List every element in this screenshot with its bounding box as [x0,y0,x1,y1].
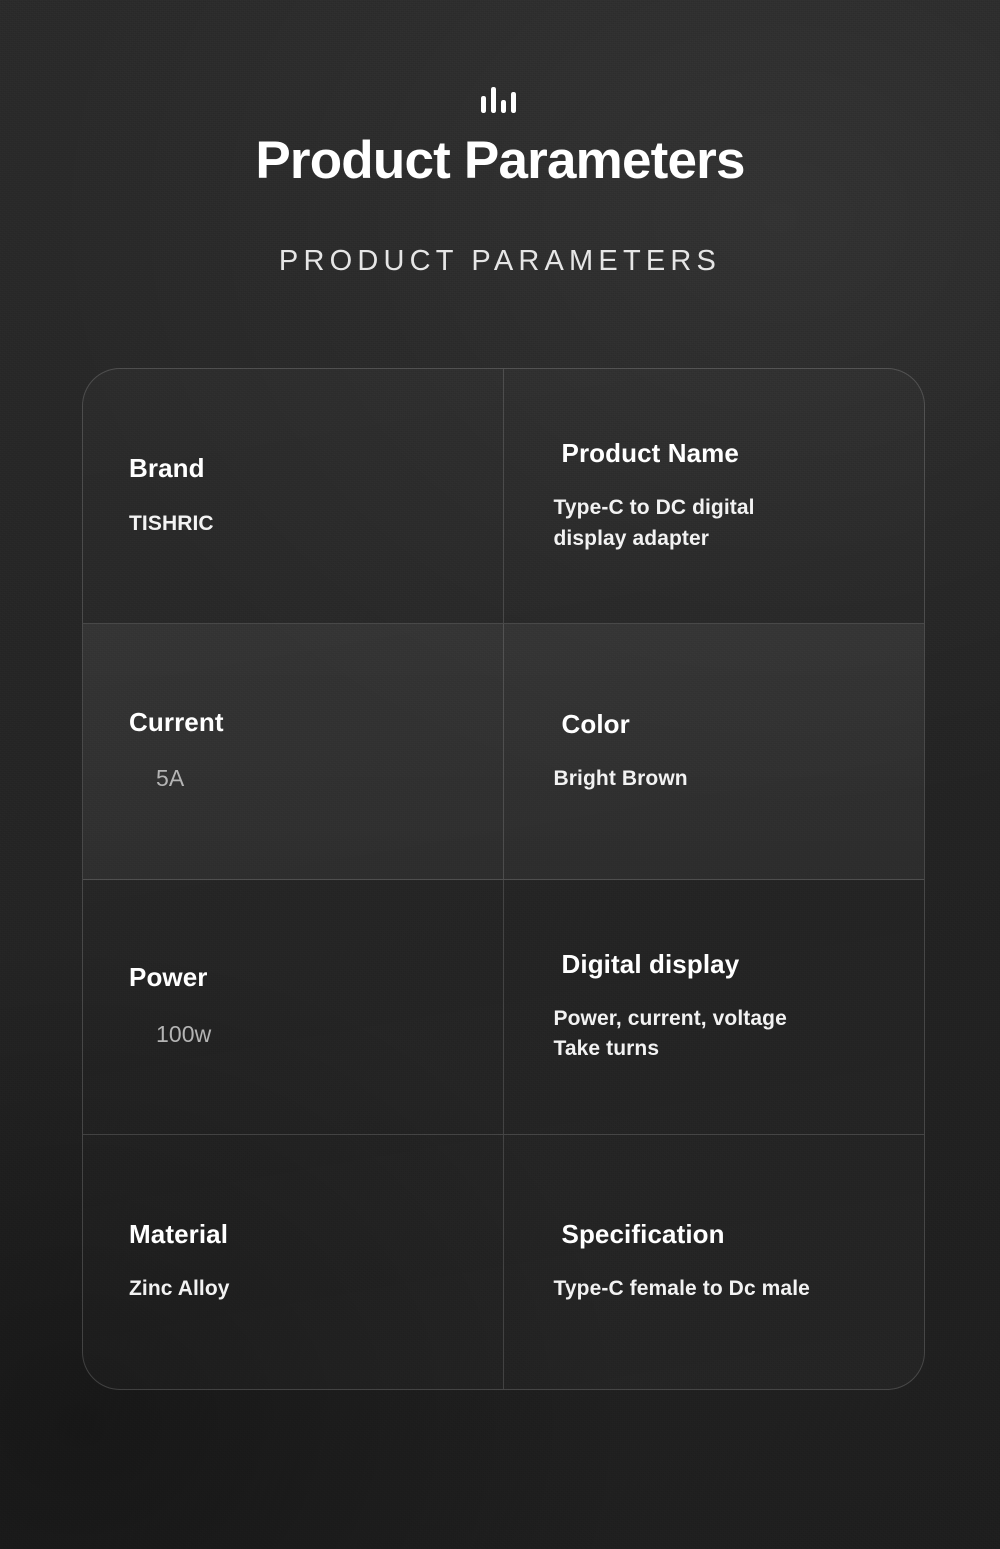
table-row: Material Zinc Alloy Specification Type-C… [83,1135,924,1389]
spec-cell-current: Current 5A [83,624,504,878]
spec-label: Material [129,1219,503,1250]
spec-value-line: Bright Brown [554,764,884,794]
spec-label: Product Name [554,438,925,469]
spec-value-line: Zinc Alloy [129,1274,459,1304]
spec-label: Brand [129,453,503,484]
spec-value-line: Take turns [554,1034,884,1064]
spec-label: Specification [554,1219,925,1250]
table-row: Brand TISHRIC Product Name Type-C to DC … [83,369,924,624]
spec-value: 100w [129,1018,486,1051]
spec-cell-power: Power 100w [83,880,504,1134]
table-row: Power 100w Digital display Power, curren… [83,880,924,1135]
bar-chart-icon [478,84,522,114]
page-title: Product Parameters [0,132,1000,190]
spec-value-line: TISHRIC [129,509,459,539]
spec-value-line: Type-C to DC digital [554,493,884,523]
spec-label: Digital display [554,949,925,980]
spec-value: Bright Brown [554,764,884,794]
page-header: Product Parameters PRODUCT PARAMETERS [0,0,1000,278]
table-row: Current 5A Color Bright Brown [83,624,924,879]
spec-cell-digital-display: Digital display Power, current, voltage … [504,880,925,1134]
spec-value: Zinc Alloy [129,1274,459,1304]
spec-value: 5A [129,762,486,795]
spec-value-line: Type-C female to Dc male [554,1274,925,1304]
spec-value-line: Power, current, voltage [554,1004,884,1034]
spec-value: Type-C to DC digital display adapter [554,493,884,554]
spec-cell-color: Color Bright Brown [504,624,925,878]
spec-cell-specification: Specification Type-C female to Dc male [504,1135,925,1389]
spec-value: Power, current, voltage Take turns [554,1004,884,1065]
spec-label: Power [129,962,503,993]
spec-label: Color [554,709,925,740]
spec-value-line: 100w [156,1018,486,1051]
spec-cell-brand: Brand TISHRIC [83,369,504,623]
specification-table: Brand TISHRIC Product Name Type-C to DC … [82,368,925,1390]
spec-cell-product-name: Product Name Type-C to DC digital displa… [504,369,925,623]
spec-cell-material: Material Zinc Alloy [83,1135,504,1389]
spec-value: TISHRIC [129,509,459,539]
product-parameters-page: Product Parameters PRODUCT PARAMETERS Br… [0,0,1000,1549]
spec-value: Type-C female to Dc male [554,1274,925,1304]
spec-value-line: display adapter [554,524,884,554]
spec-value-line: 5A [156,762,486,795]
page-subtitle: PRODUCT PARAMETERS [0,246,1000,278]
spec-label: Current [129,707,503,738]
